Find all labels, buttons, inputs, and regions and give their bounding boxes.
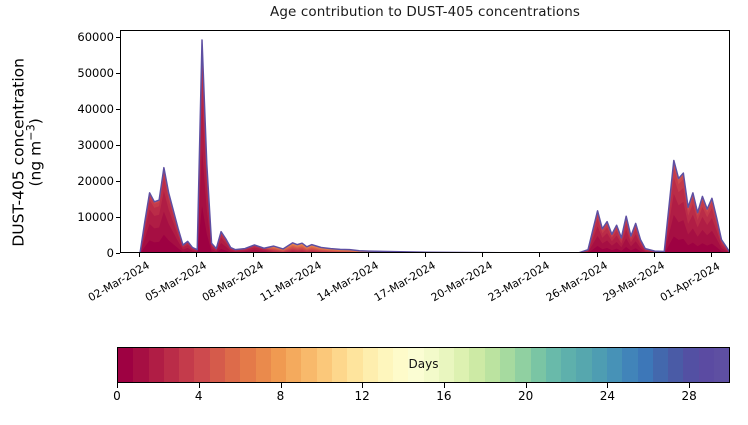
area-layer bbox=[121, 40, 730, 253]
area-layer bbox=[121, 40, 730, 253]
colorbar-tick-label: 16 bbox=[436, 389, 451, 403]
area-layer bbox=[121, 65, 730, 253]
plot-area[interactable] bbox=[120, 30, 730, 253]
x-tick-label: 05-Mar-2024 bbox=[143, 260, 207, 304]
y-axis-units-suffix: ) bbox=[27, 118, 45, 124]
colorbar-segment bbox=[301, 348, 316, 382]
x-tick-mark bbox=[196, 253, 197, 257]
area-layer bbox=[121, 98, 730, 253]
colorbar-tick-mark bbox=[526, 383, 527, 388]
colorbar-tick-label: 24 bbox=[600, 389, 615, 403]
area-layer bbox=[121, 40, 730, 253]
y-tick-label: 0 bbox=[56, 246, 114, 260]
colorbar-segment bbox=[286, 348, 301, 382]
colorbar-segment bbox=[638, 348, 653, 382]
area-layer bbox=[121, 40, 730, 253]
area-layer bbox=[121, 40, 730, 253]
area-layer bbox=[121, 40, 730, 253]
colorbar-segment bbox=[332, 348, 347, 382]
x-tick-label: 20-Mar-2024 bbox=[429, 260, 493, 304]
colorbar-segment bbox=[622, 348, 637, 382]
colorbar-segment bbox=[363, 348, 378, 382]
colorbar-segment bbox=[271, 348, 286, 382]
area-layer bbox=[121, 40, 730, 253]
colorbar-segment bbox=[133, 348, 148, 382]
y-axis-units-exponent: −3 bbox=[25, 124, 38, 140]
y-tick-label: 10000 bbox=[56, 210, 114, 224]
colorbar-tick-mark bbox=[117, 383, 118, 388]
y-tick-label: 20000 bbox=[56, 174, 114, 188]
y-tick-label: 50000 bbox=[56, 66, 114, 80]
x-tick-label: 23-Mar-2024 bbox=[486, 260, 550, 304]
area-layer bbox=[121, 40, 730, 253]
area-layer bbox=[121, 40, 730, 253]
area-layer bbox=[121, 40, 730, 253]
x-tick-mark bbox=[425, 253, 426, 257]
colorbar[interactable] bbox=[117, 347, 730, 383]
colorbar-segment bbox=[225, 348, 240, 382]
x-tick-mark bbox=[311, 253, 312, 257]
colorbar-tick-label: 4 bbox=[195, 389, 203, 403]
area-layer bbox=[121, 40, 730, 253]
colorbar-segment bbox=[439, 348, 454, 382]
area-layer bbox=[121, 40, 730, 253]
chart-title: Age contribution to DUST-405 concentrati… bbox=[120, 4, 730, 20]
colorbar-segment bbox=[668, 348, 683, 382]
area-layer bbox=[121, 40, 730, 253]
colorbar-tick-label: 20 bbox=[518, 389, 533, 403]
x-tick-mark bbox=[654, 253, 655, 257]
stacked-area-series bbox=[121, 31, 730, 253]
area-layer bbox=[121, 40, 730, 253]
area-layer bbox=[121, 40, 730, 253]
area-layer bbox=[121, 40, 730, 253]
x-tick-label: 11-Mar-2024 bbox=[257, 260, 321, 304]
colorbar-segment bbox=[576, 348, 591, 382]
colorbar-segment bbox=[408, 348, 423, 382]
x-tick-mark bbox=[597, 253, 598, 257]
colorbar-segment bbox=[454, 348, 469, 382]
x-tick-label: 01-Apr-2024 bbox=[658, 260, 722, 304]
colorbar-segment bbox=[653, 348, 668, 382]
colorbar-segment bbox=[683, 348, 698, 382]
colorbar-segment bbox=[531, 348, 546, 382]
colorbar-segment bbox=[607, 348, 622, 382]
y-tick-label: 60000 bbox=[56, 30, 114, 44]
total-outline bbox=[121, 40, 730, 253]
area-layer bbox=[121, 40, 730, 253]
area-layer bbox=[121, 40, 730, 253]
colorbar-tick-label: 0 bbox=[113, 389, 121, 403]
area-layer bbox=[121, 40, 730, 253]
colorbar-tick-mark bbox=[199, 383, 200, 388]
area-layer bbox=[121, 40, 730, 253]
area-layer bbox=[121, 40, 730, 253]
area-layer bbox=[121, 40, 730, 253]
area-layer bbox=[121, 40, 730, 253]
colorbar-segment bbox=[469, 348, 484, 382]
colorbar-tick-mark bbox=[607, 383, 608, 388]
colorbar-segment bbox=[515, 348, 530, 382]
x-tick-label: 08-Mar-2024 bbox=[200, 260, 264, 304]
area-layer bbox=[121, 40, 730, 253]
colorbar-segment bbox=[118, 348, 133, 382]
x-tick-mark bbox=[368, 253, 369, 257]
x-tick-label: 02-Mar-2024 bbox=[86, 260, 150, 304]
y-axis-label: DUST-405 concentration (ng m−3) bbox=[11, 32, 46, 272]
colorbar-segment bbox=[714, 348, 729, 382]
area-layer bbox=[121, 48, 730, 253]
colorbar-segment bbox=[256, 348, 271, 382]
x-tick-label: 14-Mar-2024 bbox=[315, 260, 379, 304]
colorbar-segment bbox=[179, 348, 194, 382]
colorbar-segment bbox=[210, 348, 225, 382]
area-layer bbox=[121, 40, 730, 253]
colorbar-segment bbox=[194, 348, 209, 382]
colorbar-segment bbox=[699, 348, 714, 382]
colorbar-segment bbox=[424, 348, 439, 382]
colorbar-segment bbox=[546, 348, 561, 382]
x-tick-label: 29-Mar-2024 bbox=[601, 260, 665, 304]
colorbar-segment bbox=[317, 348, 332, 382]
x-tick-mark bbox=[253, 253, 254, 257]
area-layer bbox=[121, 40, 730, 253]
area-layer bbox=[121, 40, 730, 253]
colorbar-segment bbox=[149, 348, 164, 382]
area-layer bbox=[121, 40, 730, 253]
colorbar-tick-mark bbox=[362, 383, 363, 388]
colorbar-segment bbox=[561, 348, 576, 382]
y-tick-mark bbox=[116, 253, 120, 254]
colorbar-segment bbox=[485, 348, 500, 382]
y-tick-label: 30000 bbox=[56, 138, 114, 152]
area-layer bbox=[121, 40, 730, 253]
y-tick-label: 40000 bbox=[56, 102, 114, 116]
colorbar-segment bbox=[592, 348, 607, 382]
colorbar-tick-mark bbox=[281, 383, 282, 388]
x-tick-label: 17-Mar-2024 bbox=[372, 260, 436, 304]
colorbar-tick-mark bbox=[689, 383, 690, 388]
area-layer bbox=[121, 40, 730, 253]
x-tick-mark bbox=[482, 253, 483, 257]
area-layer bbox=[121, 40, 730, 253]
figure-canvas: Age contribution to DUST-405 concentrati… bbox=[0, 0, 748, 425]
x-tick-label: 26-Mar-2024 bbox=[543, 260, 607, 304]
colorbar-tick-mark bbox=[444, 383, 445, 388]
colorbar-segment bbox=[347, 348, 362, 382]
x-tick-mark bbox=[539, 253, 540, 257]
x-tick-mark bbox=[711, 253, 712, 257]
area-layer bbox=[121, 42, 730, 253]
colorbar-tick-label: 12 bbox=[355, 389, 370, 403]
y-axis-label-line1: DUST-405 concentration bbox=[10, 58, 28, 247]
x-tick-mark bbox=[139, 253, 140, 257]
area-layer bbox=[121, 40, 730, 253]
area-layer bbox=[121, 40, 730, 253]
colorbar-segment bbox=[240, 348, 255, 382]
area-layer bbox=[121, 40, 730, 253]
colorbar-segment bbox=[393, 348, 408, 382]
colorbar-segment bbox=[378, 348, 393, 382]
y-axis-label-line2: (ng m−3) bbox=[28, 32, 45, 272]
colorbar-segment bbox=[500, 348, 515, 382]
colorbar-segment bbox=[164, 348, 179, 382]
colorbar-tick-label: 8 bbox=[277, 389, 285, 403]
colorbar-tick-label: 28 bbox=[681, 389, 696, 403]
y-axis-units-prefix: (ng m bbox=[27, 141, 45, 187]
